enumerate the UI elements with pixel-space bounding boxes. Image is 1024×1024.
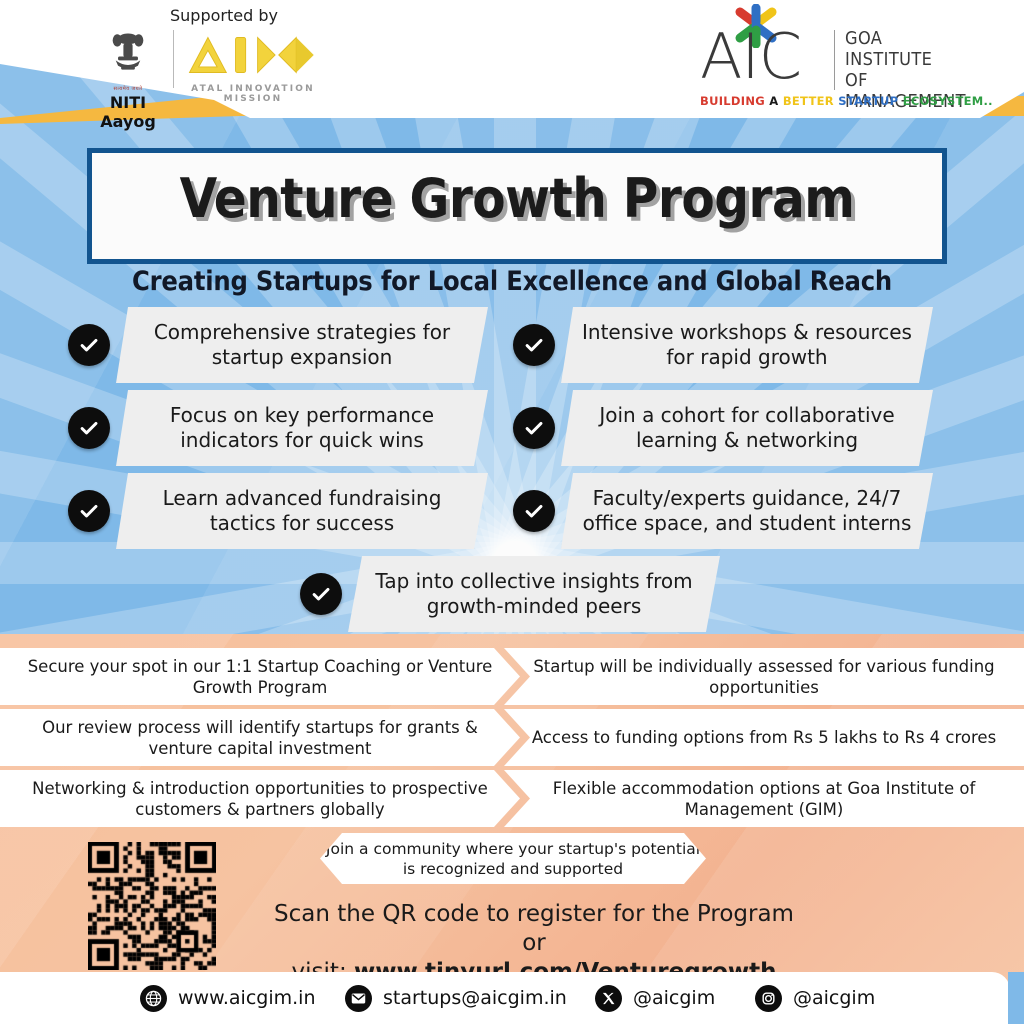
footer-item-text: www.aicgim.in (178, 987, 316, 1009)
tagline-word-2: BETTER (783, 94, 834, 108)
benefit-right-1: Access to funding options from Rs 5 lakh… (504, 709, 1024, 766)
feature-right-0: Intensive workshops & resources for rapi… (513, 307, 933, 383)
supported-by-label: Supported by (170, 6, 278, 25)
footer-bar: www.aicgim.instartups@aicgim.in@aicgim@a… (0, 972, 1010, 1024)
footer-item-text: startups@aicgim.in (383, 987, 567, 1009)
niti-aayog-logo: सत्यमेव जयते NITI Aayog (85, 30, 171, 131)
aic-logo-divider (834, 30, 835, 90)
feature-card-text: Focus on key performance indicators for … (116, 390, 488, 466)
tagline-word-1: A (765, 94, 783, 108)
feature-card-text: Comprehensive strategies for startup exp… (116, 307, 488, 383)
aic-letters: AIC (700, 26, 801, 88)
feature-card-text: Learn advanced fundraising tactics for s… (116, 473, 488, 549)
qr-code[interactable] (88, 842, 216, 970)
footer-item-globe[interactable]: www.aicgim.in (140, 985, 316, 1012)
email-icon (345, 985, 372, 1012)
feature-center: Tap into collective insights from growth… (300, 556, 720, 632)
benefit-text: Flexible accommodation options at Goa In… (526, 778, 1002, 820)
tagline-word-3: STARTUP (834, 94, 903, 108)
check-icon (68, 324, 110, 366)
header-divider (173, 30, 174, 88)
feature-card-text: Intensive workshops & resources for rapi… (561, 307, 933, 383)
title-box: Venture Growth Program (87, 148, 947, 264)
atal-innovation-mission-logo: ATAL INNOVATION MISSION (183, 32, 323, 104)
benefit-text: Access to funding options from Rs 5 lakh… (532, 727, 996, 748)
footer-item-instagram[interactable]: @aicgim (755, 985, 875, 1012)
gim-line-2: INSTITUTE (845, 49, 966, 70)
tagline-word-0: BUILDING (700, 94, 765, 108)
check-icon (513, 407, 555, 449)
benefit-right-2: Flexible accommodation options at Goa In… (504, 770, 1024, 827)
feature-right-1: Join a cohort for collaborative learning… (513, 390, 933, 466)
footer-item-text: @aicgim (793, 987, 875, 1009)
feature-card-text: Tap into collective insights from growth… (348, 556, 720, 632)
community-note-card: Join a community where your startup's po… (320, 833, 706, 884)
x-twitter-icon (595, 985, 622, 1012)
footer-item-x-twitter[interactable]: @aicgim (595, 985, 715, 1012)
benefit-right-0: Startup will be individually assessed fo… (504, 648, 1024, 705)
benefit-text: Our review process will identify startup… (22, 717, 498, 759)
feature-left-1: Focus on key performance indicators for … (68, 390, 488, 466)
aim-mark-icon (183, 32, 323, 78)
benefit-left-0: Secure your spot in our 1:1 Startup Coac… (0, 648, 520, 705)
aic-mark: AIC (700, 4, 832, 90)
niti-label: NITI Aayog (85, 93, 171, 131)
aic-tagline: BUILDING A BETTER STARTUP ECOSYSTEM.. (700, 94, 993, 108)
benefit-text: Secure your spot in our 1:1 Startup Coac… (22, 656, 498, 698)
ashoka-emblem-icon (85, 30, 171, 86)
niti-sanskrit-motto: सत्यमेव जयते (85, 86, 171, 92)
globe-icon (140, 985, 167, 1012)
aim-wordmark: ATAL INNOVATION MISSION (183, 84, 323, 104)
footer-blue-strip (1008, 972, 1024, 1024)
check-icon (68, 490, 110, 532)
feature-card-text: Join a cohort for collaborative learning… (561, 390, 933, 466)
footer-item-email[interactable]: startups@aicgim.in (345, 985, 567, 1012)
benefit-text: Networking & introduction opportunities … (22, 778, 498, 820)
aic-gim-logo: AIC GOA INSTITUTE OF MANAGEMENT BUILDING… (700, 4, 955, 90)
cta-line-1: Scan the QR code to register for the Pro… (274, 901, 794, 956)
feature-left-2: Learn advanced fundraising tactics for s… (68, 473, 488, 549)
check-icon (68, 407, 110, 449)
page-title: Venture Growth Program (92, 167, 942, 230)
check-icon (300, 573, 342, 615)
poster-root: Supported by सत्यमेव जयते NITI Aayog (0, 0, 1024, 1024)
tagline-word-4: ECOSYSTEM.. (903, 94, 993, 108)
instagram-icon (755, 985, 782, 1012)
community-note-text: Join a community where your startup's po… (320, 839, 706, 879)
footer-item-text: @aicgim (633, 987, 715, 1009)
benefit-left-1: Our review process will identify startup… (0, 709, 520, 766)
feature-card-text: Faculty/experts guidance, 24/7 office sp… (561, 473, 933, 549)
benefit-text: Startup will be individually assessed fo… (526, 656, 1002, 698)
gim-line-1: GOA (845, 28, 966, 49)
benefit-left-2: Networking & introduction opportunities … (0, 770, 520, 827)
check-icon (513, 490, 555, 532)
feature-left-0: Comprehensive strategies for startup exp… (68, 307, 488, 383)
check-icon (513, 324, 555, 366)
page-subtitle: Creating Startups for Local Excellence a… (0, 266, 1024, 297)
feature-right-2: Faculty/experts guidance, 24/7 office sp… (513, 473, 933, 549)
